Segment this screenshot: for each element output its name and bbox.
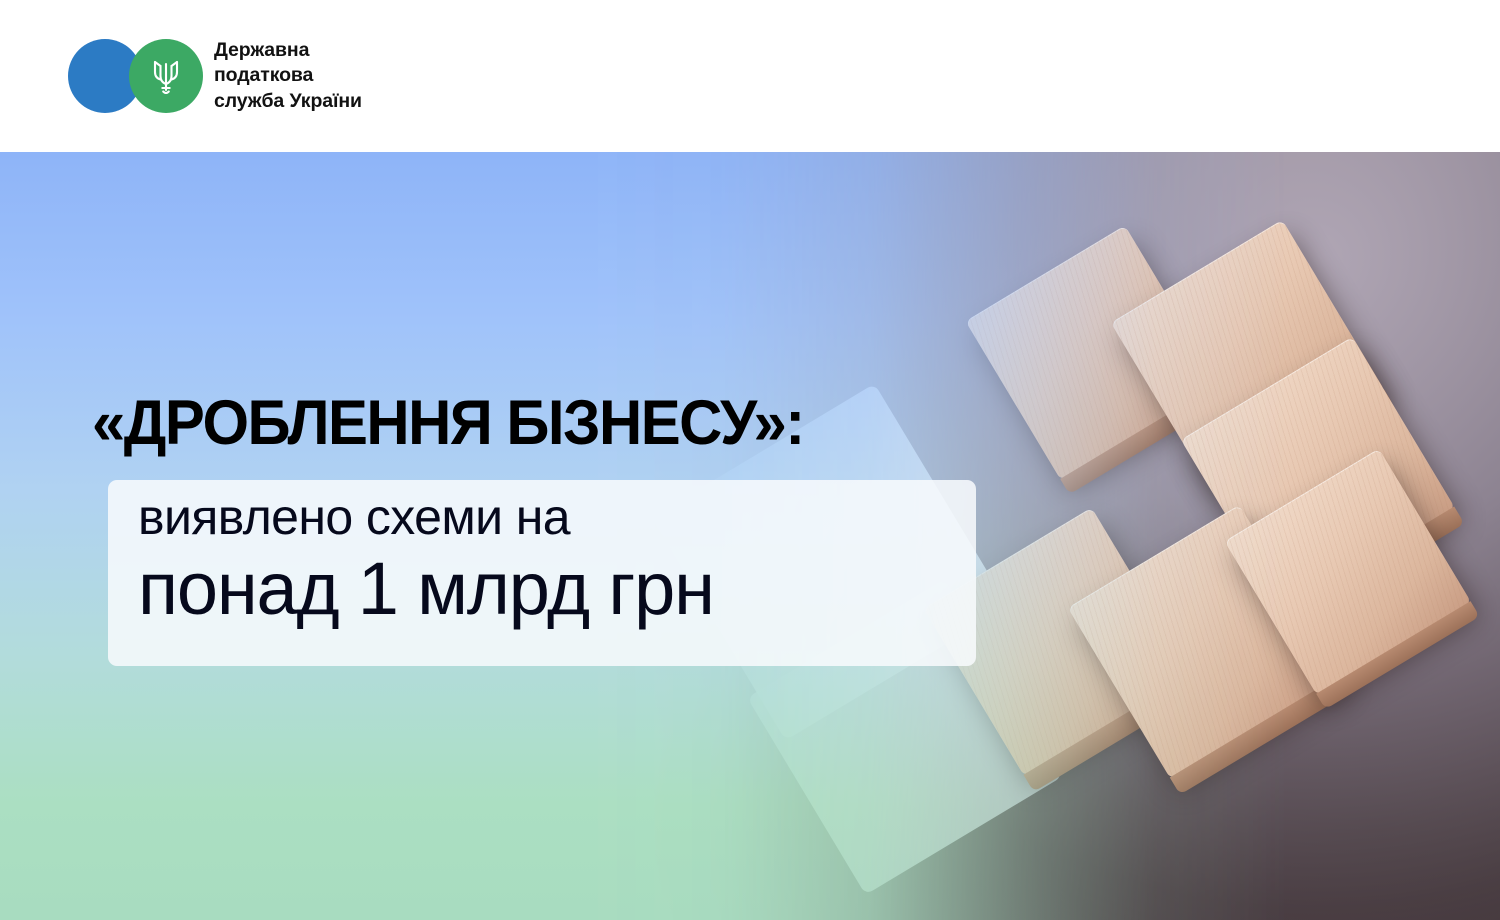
agency-name-line-1: Державна <box>214 38 362 63</box>
banner-copy: «ДРОБЛЕННЯ БІЗНЕСУ»: виявлено схеми на п… <box>0 152 1500 920</box>
agency-name-line-2: податкова <box>214 63 362 88</box>
banner-subline-2: понад 1 млрд грн <box>138 552 714 626</box>
agency-name: Державна податкова служба України <box>214 38 362 114</box>
banner-subline-1: виявлено схеми на <box>138 492 570 542</box>
ukraine-trident-icon <box>149 56 183 96</box>
poster-canvas: Державна податкова служба України «ДРОБЛ… <box>0 0 1500 920</box>
logo-marks <box>68 39 203 114</box>
agency-name-line-3: служба України <box>214 89 362 114</box>
agency-logo[interactable]: Державна податкова служба України <box>68 38 362 114</box>
header-band: Державна податкова служба України <box>0 0 1500 152</box>
headline-highlight-panel: виявлено схеми на понад 1 млрд грн <box>108 480 976 666</box>
banner-headline: «ДРОБЛЕННЯ БІЗНЕСУ»: <box>92 392 804 455</box>
green-circle-icon <box>129 39 203 113</box>
